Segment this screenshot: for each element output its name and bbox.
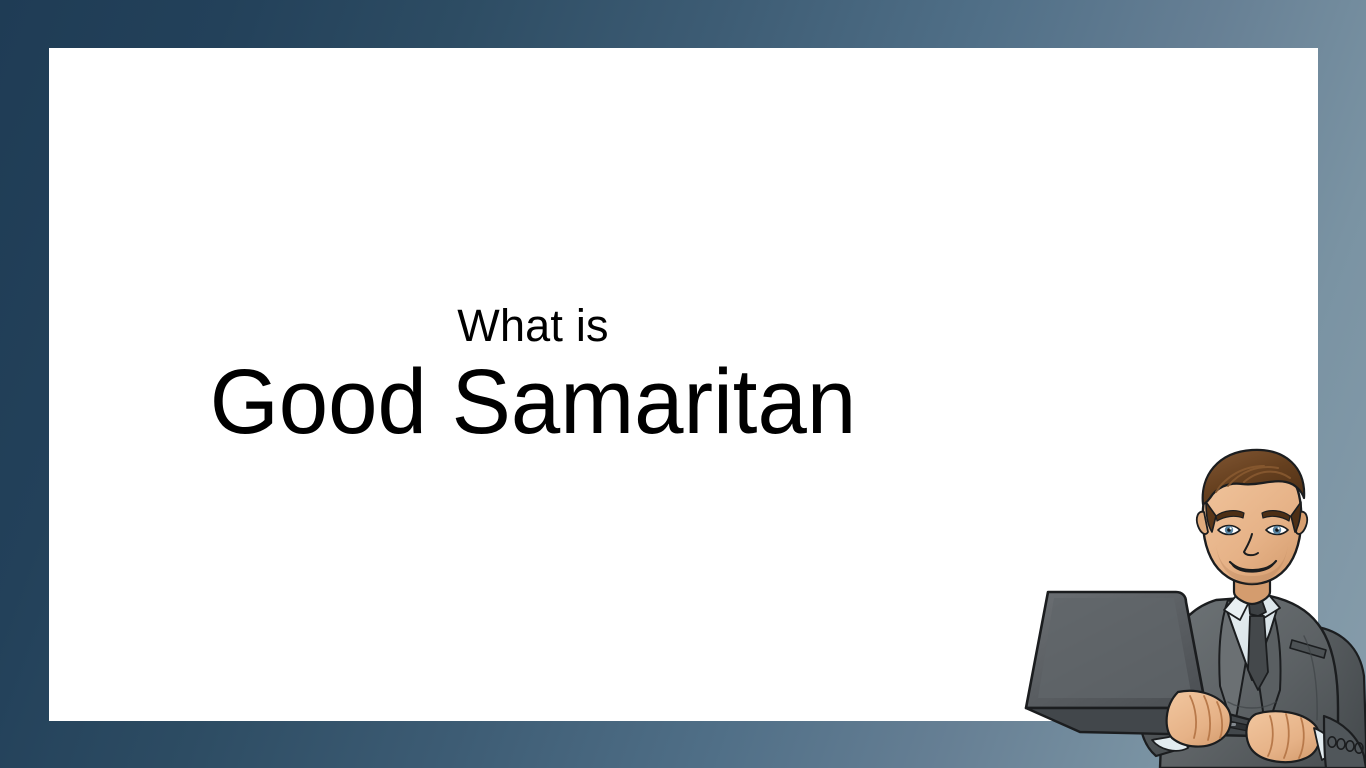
title-block: What is Good Samaritan (49, 303, 1017, 451)
page-title: Good Samaritan (66, 354, 1000, 451)
title-eyebrow: What is (49, 303, 1017, 348)
content-card: What is Good Samaritan (49, 48, 1318, 721)
slide-canvas: What is Good Samaritan (0, 0, 1366, 768)
